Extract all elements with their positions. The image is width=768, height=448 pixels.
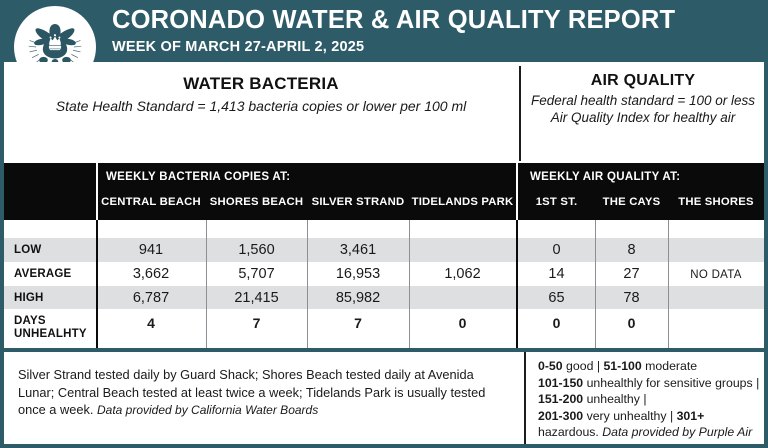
row-label-days-unhealthy: DAYS UNHEALHTY xyxy=(14,315,94,341)
page-subtitle: WEEK OF MARCH 27-APRIL 2, 2025 xyxy=(112,37,760,57)
air-group-header: WEEKLY AIR QUALITY AT: xyxy=(530,171,680,183)
report-header: CORONADO WATER & AIR QUALITY REPORT WEEK… xyxy=(0,0,768,62)
cell-days-tidelands-park: 0 xyxy=(409,315,516,331)
cell-average-silver-strand: 16,953 xyxy=(307,266,409,282)
vline-cays-shores xyxy=(668,220,669,348)
footer-divider xyxy=(524,352,526,444)
cell-average-the-cays: 27 xyxy=(595,266,668,282)
report-footer: Silver Strand tested daily by Guard Shac… xyxy=(4,352,764,444)
cell-days-shores-beach: 7 xyxy=(206,315,307,331)
col-header-the-cays: THE CAYS xyxy=(595,196,668,208)
row-label-days-line1: DAYS xyxy=(14,315,46,327)
cell-average-tidelands-park: 1,062 xyxy=(409,266,516,282)
report-poster: CORONADO WATER & AIR QUALITY REPORT WEEK… xyxy=(0,0,768,448)
aqi-label-unhealthy: unhealthy xyxy=(587,392,640,406)
header-title-block: CORONADO WATER & AIR QUALITY REPORT WEEK… xyxy=(112,5,760,57)
aqi-label-hazardous: hazardous. xyxy=(538,425,599,439)
col-header-tidelands-park: TIDELANDS PARK xyxy=(409,196,516,208)
aqi-range-151-200: 151-200 xyxy=(538,392,583,406)
cell-low-1st-st: 0 xyxy=(518,242,595,258)
page-title: CORONADO WATER & AIR QUALITY REPORT xyxy=(112,5,760,35)
aqi-label-moderate: moderate xyxy=(645,359,697,373)
standards-divider xyxy=(519,66,521,161)
col-header-shores-beach: SHORES BEACH xyxy=(206,196,307,208)
cell-average-central-beach: 3,662 xyxy=(96,266,206,282)
cell-low-the-cays: 8 xyxy=(595,242,668,258)
air-quality-legend: 0-50 good | 51-100 moderate 101-150 unhe… xyxy=(538,358,764,441)
water-section-title: WATER BACTERIA xyxy=(4,74,518,94)
cell-days-1st-st: 0 xyxy=(518,315,595,331)
water-standard-block: WATER BACTERIA State Health Standard = 1… xyxy=(4,62,518,163)
cell-days-central-beach: 4 xyxy=(96,315,206,331)
aqi-range-101-150: 101-150 xyxy=(538,376,583,390)
cell-high-shores-beach: 21,415 xyxy=(206,290,307,306)
air-footnote-source: Data provided by Purple Air xyxy=(602,425,752,439)
aqi-range-301-plus: 301+ xyxy=(677,409,705,423)
cell-low-shores-beach: 1,560 xyxy=(206,242,307,258)
aqi-range-201-300: 201-300 xyxy=(538,409,583,423)
row-label-high: HIGH xyxy=(14,292,44,305)
aqi-label-very-unhealthy: very unhealthy xyxy=(587,409,667,423)
aqi-range-51-100: 51-100 xyxy=(603,359,641,373)
cell-low-central-beach: 941 xyxy=(96,242,206,258)
cell-low-silver-strand: 3,461 xyxy=(307,242,409,258)
cell-high-the-cays: 78 xyxy=(595,290,668,306)
aqi-range-0-50: 0-50 xyxy=(538,359,563,373)
header-divider-rowlabel xyxy=(96,163,98,220)
water-group-header: WEEKLY BACTERIA COPIES AT: xyxy=(106,171,290,183)
cell-high-silver-strand: 85,982 xyxy=(307,290,409,306)
cell-average-1st-st: 14 xyxy=(518,266,595,282)
col-header-silver-strand: SILVER STRAND xyxy=(307,196,409,208)
water-standard-text: State Health Standard = 1,413 bacteria c… xyxy=(4,97,518,115)
row-label-days-line2: UNHEALHTY xyxy=(14,328,87,340)
cell-average-shores-beach: 5,707 xyxy=(206,266,307,282)
air-section-title: AIR QUALITY xyxy=(522,72,764,90)
row-label-low: LOW xyxy=(14,244,41,257)
cell-days-the-cays: 0 xyxy=(595,315,668,331)
cell-days-silver-strand: 7 xyxy=(307,315,409,331)
data-table: WEEKLY BACTERIA COPIES AT: WEEKLY AIR QU… xyxy=(4,163,764,348)
table-body: LOW AVERAGE HIGH DAYS UNHEALHTY 941 1,56… xyxy=(4,220,764,348)
cell-high-central-beach: 6,787 xyxy=(96,290,206,306)
col-header-central-beach: CENTRAL BEACH xyxy=(96,196,206,208)
cell-average-the-shores: NO DATA xyxy=(668,269,764,281)
aqi-label-good: good xyxy=(566,359,593,373)
cell-high-1st-st: 65 xyxy=(518,290,595,306)
standards-band: WATER BACTERIA State Health Standard = 1… xyxy=(4,62,764,163)
aqi-label-usg: unhealthly for sensitive groups xyxy=(587,376,753,390)
water-footnote-source: Data provided by California Water Boards xyxy=(97,403,318,417)
header-divider-sections xyxy=(516,163,518,220)
col-header-1st-st: 1ST ST. xyxy=(518,196,595,208)
table-header-bar: WEEKLY BACTERIA COPIES AT: WEEKLY AIR QU… xyxy=(4,163,764,220)
air-standard-block: AIR QUALITY Federal health standard = 10… xyxy=(522,62,764,163)
air-standard-text: Federal health standard = 100 or less Ai… xyxy=(522,92,764,126)
water-footnote: Silver Strand tested daily by Guard Shac… xyxy=(18,366,506,420)
row-label-average: AVERAGE xyxy=(14,268,71,281)
col-header-the-shores: THE SHORES xyxy=(668,196,764,208)
